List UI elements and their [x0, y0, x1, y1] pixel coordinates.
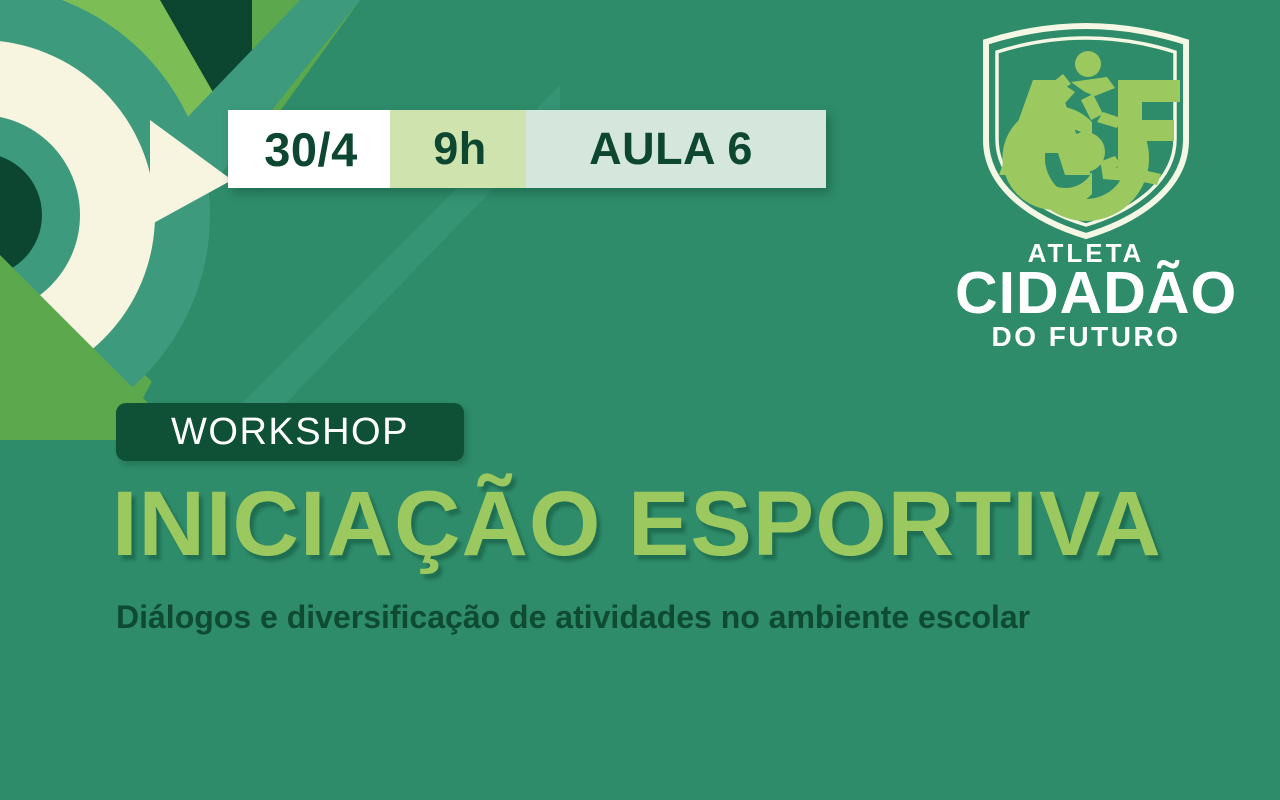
- event-ribbon: 30/4 9h AULA 6: [228, 110, 826, 188]
- logo-line-do-futuro: DO FUTURO: [955, 323, 1217, 351]
- logo-line-cidadao: CIDADÃO: [955, 264, 1217, 323]
- ribbon-lesson-text: AULA 6: [589, 123, 753, 175]
- workshop-badge-label: WORKSHOP: [171, 411, 409, 454]
- ribbon-lesson: AULA 6: [526, 110, 826, 188]
- page-title: INICIAÇÃO ESPORTIVA: [112, 478, 1232, 570]
- shield-icon: [975, 22, 1197, 240]
- logo: ATLETA CIDADÃO DO FUTURO: [955, 22, 1217, 322]
- ribbon-time-text: 9h: [433, 123, 487, 175]
- page-subtitle: Diálogos e diversificação de atividades …: [116, 600, 1236, 635]
- promo-banner: 30/4 9h AULA 6: [0, 0, 1280, 800]
- decorative-graphic: [0, 0, 560, 440]
- logo-wordmark: ATLETA CIDADÃO DO FUTURO: [955, 240, 1217, 351]
- ribbon-date-text: 30/4: [264, 122, 357, 177]
- workshop-badge: WORKSHOP: [116, 403, 464, 461]
